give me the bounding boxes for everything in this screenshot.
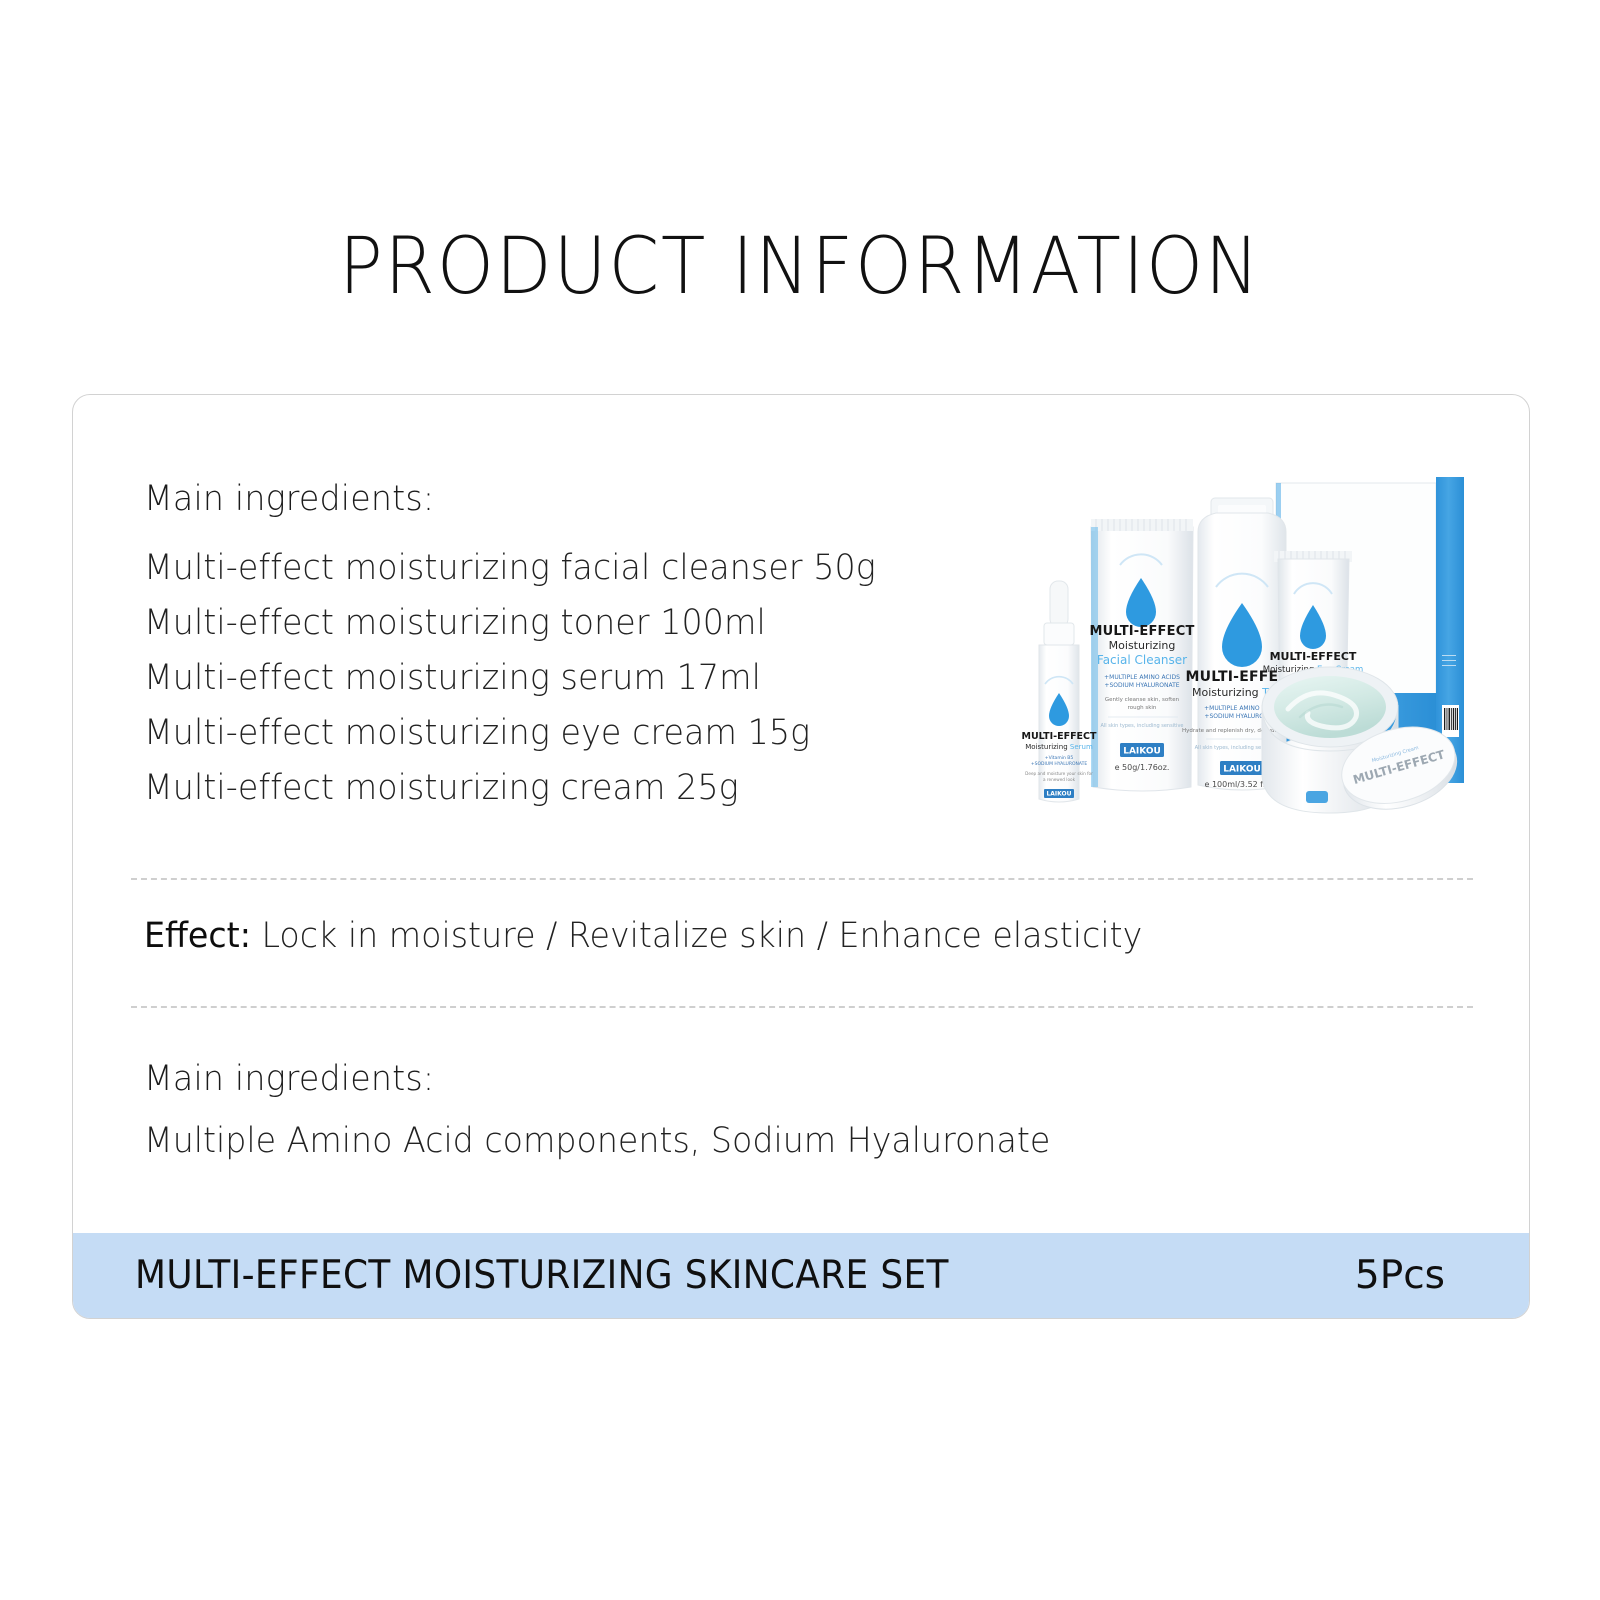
- serum-bottle-graphic: MULTI-EFFECT Moisturizing Serum +Vitamin…: [1021, 581, 1097, 802]
- svg-text:e 50g/1.76oz.: e 50g/1.76oz.: [1115, 763, 1170, 772]
- svg-text:+SODIUM HYALURONATE: +SODIUM HYALURONATE: [1104, 682, 1179, 689]
- svg-text:LAIKOU: LAIKOU: [1123, 747, 1161, 757]
- svg-text:All skin types, including sens: All skin types, including sensitive: [1101, 723, 1184, 729]
- svg-text:+SODIUM HYALURONATE: +SODIUM HYALURONATE: [1031, 761, 1088, 767]
- list-item: Multi-effect moisturizing eye cream 15g: [144, 706, 1056, 761]
- ingredient-list: Multi-effect moisturizing facial cleanse…: [144, 541, 1104, 816]
- product-set-photo: MULTI-EFFECT Moisturizing Facial Cleanse…: [1008, 455, 1478, 815]
- product-info-card: Main ingredients: Multi-effect moisturiz…: [72, 394, 1530, 1319]
- svg-text:MULTI-EFFECT: MULTI-EFFECT: [1089, 624, 1194, 639]
- svg-text:+Vitamin B5: +Vitamin B5: [1045, 755, 1074, 761]
- list-item: Multi-effect moisturizing cream 25g: [144, 761, 1056, 816]
- effect-row: Effect: Lock in moisture / Revitalize sk…: [144, 916, 1142, 956]
- product-information-page: PRODUCT INFORMATION Main ingredients: Mu…: [0, 0, 1600, 1600]
- svg-text:Deep and moisture your skin fo: Deep and moisture your skin for: [1025, 771, 1093, 776]
- main-ingredients-heading: Main ingredients:: [144, 479, 1056, 519]
- active-ingredients-section: Main ingredients: Multiple Amino Acid co…: [144, 1059, 1344, 1161]
- barcode-icon: [1442, 705, 1459, 737]
- effect-label: Effect:: [144, 916, 251, 956]
- product-footer-bar: MULTI-EFFECT MOISTURIZING SKINCARE SET 5…: [73, 1233, 1529, 1318]
- page-title: PRODUCT INFORMATION: [56, 222, 1544, 312]
- facial-cleanser-tube-graphic: MULTI-EFFECT Moisturizing Facial Cleanse…: [1089, 519, 1194, 791]
- main-ingredients-section: Main ingredients: Multi-effect moisturiz…: [144, 479, 1104, 816]
- footer-product-name: MULTI-EFFECT MOISTURIZING SKINCARE SET: [135, 1253, 949, 1298]
- svg-text:MULTI-EFFECT: MULTI-EFFECT: [1270, 650, 1357, 663]
- svg-text:MULTI-EFFECT: MULTI-EFFECT: [1021, 731, 1097, 742]
- svg-text:Moisturizing: Moisturizing: [1109, 639, 1176, 652]
- svg-text:Gently cleanse skin, soften: Gently cleanse skin, soften: [1105, 697, 1180, 703]
- active-ingredients-heading: Main ingredients:: [144, 1059, 1284, 1099]
- divider-bottom: [131, 1006, 1473, 1008]
- footer-piece-count: 5Pcs: [1355, 1253, 1445, 1298]
- active-ingredients-body: Multiple Amino Acid components, Sodium H…: [144, 1121, 1284, 1161]
- list-item: Multi-effect moisturizing serum 17ml: [144, 651, 1056, 706]
- divider-top: [131, 878, 1473, 880]
- svg-text:Moisturizing Serum: Moisturizing Serum: [1025, 743, 1093, 751]
- effect-value: Lock in moisture / Revitalize skin / Enh…: [251, 916, 1142, 956]
- card-body: Main ingredients: Multi-effect moisturiz…: [73, 395, 1529, 1318]
- svg-text:Facial Cleanser: Facial Cleanser: [1097, 653, 1187, 667]
- svg-text:rough skin: rough skin: [1128, 705, 1157, 711]
- svg-text:+MULTIPLE AMINO ACIDS: +MULTIPLE AMINO ACIDS: [1104, 674, 1180, 681]
- list-item: Multi-effect moisturizing toner 100ml: [144, 596, 1056, 651]
- list-item: Multi-effect moisturizing facial cleanse…: [144, 541, 1056, 596]
- svg-text:LAIKOU: LAIKOU: [1046, 791, 1071, 798]
- svg-text:a renewed look: a renewed look: [1043, 777, 1076, 782]
- svg-text:LAIKOU: LAIKOU: [1223, 765, 1261, 775]
